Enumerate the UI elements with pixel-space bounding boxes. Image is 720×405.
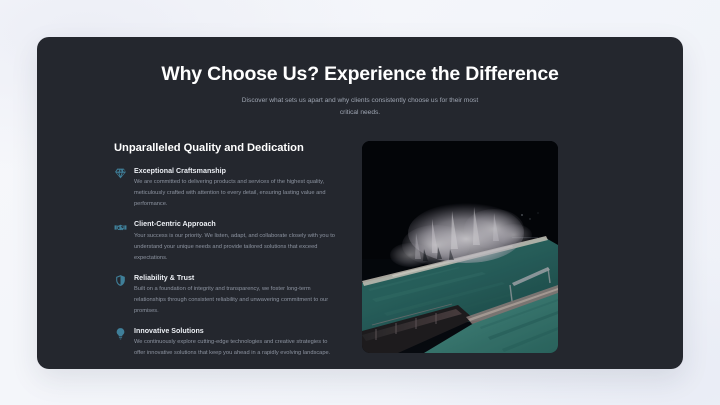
feature-description: We continuously explore cutting-edge tec…	[134, 337, 340, 359]
content-columns: Unparalleled Quality and Dedication Exce…	[37, 119, 683, 369]
feature-text: Innovative Solutions We continuously exp…	[134, 327, 340, 359]
feature-title: Client-Centric Approach	[134, 220, 340, 228]
lightbulb-icon	[114, 327, 127, 340]
feature-text: Client-Centric Approach Your success is …	[134, 220, 340, 263]
photo-column	[362, 141, 558, 369]
feature-section-card: Why Choose Us? Experience the Difference…	[37, 37, 683, 369]
feature-title: Exceptional Craftsmanship	[134, 167, 340, 175]
hero-header: Why Choose Us? Experience the Difference…	[37, 37, 683, 119]
handshake-icon	[114, 221, 127, 234]
features-column: Unparalleled Quality and Dedication Exce…	[114, 141, 340, 369]
feature-text: Exceptional Craftsmanship We are committ…	[134, 167, 340, 210]
feature-item-reliability: Reliability & Trust Built on a foundatio…	[114, 274, 340, 317]
page-subtitle: Discover what sets us apart and why clie…	[234, 95, 486, 119]
feature-description: We are committed to delivering products …	[134, 177, 340, 210]
gem-icon	[114, 167, 127, 180]
feature-title: Innovative Solutions	[134, 327, 340, 335]
ocean-pool-photo	[362, 141, 558, 353]
section-heading: Unparalleled Quality and Dedication	[114, 142, 340, 154]
shield-icon	[114, 274, 127, 287]
page-title: Why Choose Us? Experience the Difference	[37, 63, 683, 86]
feature-text: Reliability & Trust Built on a foundatio…	[134, 274, 340, 317]
feature-description: Your success is our priority. We listen,…	[134, 231, 340, 264]
feature-title: Reliability & Trust	[134, 274, 340, 282]
feature-item-innovation: Innovative Solutions We continuously exp…	[114, 327, 340, 359]
feature-description: Built on a foundation of integrity and t…	[134, 284, 340, 317]
feature-item-craftsmanship: Exceptional Craftsmanship We are committ…	[114, 167, 340, 210]
feature-item-client-centric: Client-Centric Approach Your success is …	[114, 220, 340, 263]
